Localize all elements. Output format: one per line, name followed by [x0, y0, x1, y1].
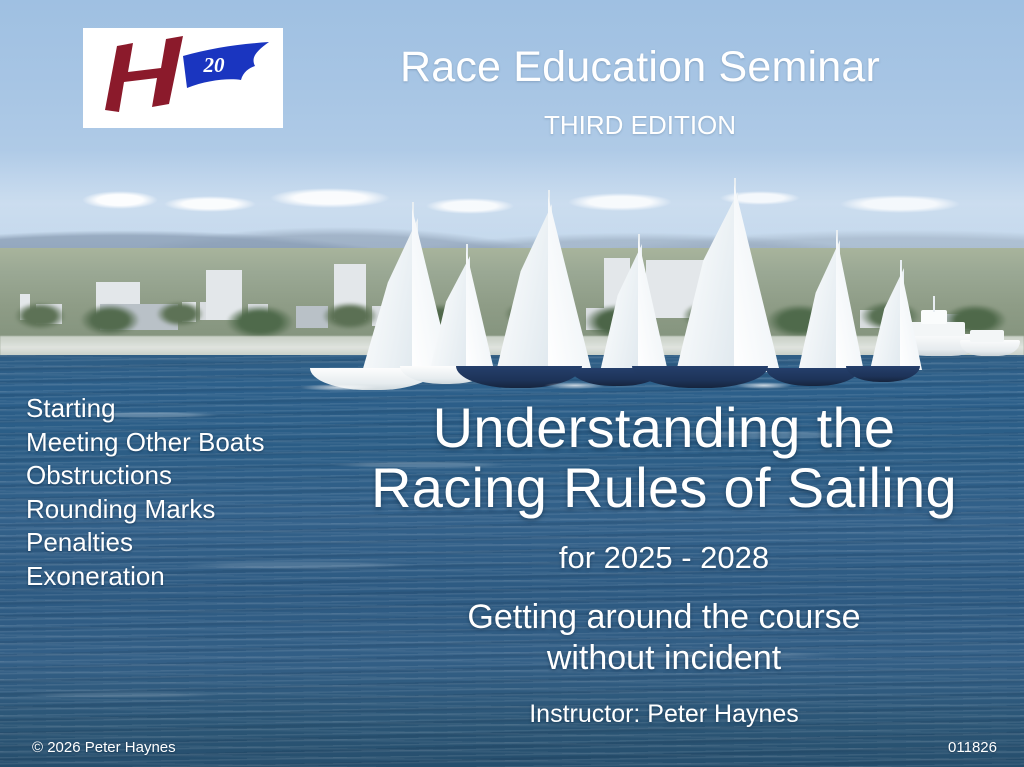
list-item: Meeting Other Boats [26, 426, 326, 460]
list-item: Rounding Marks [26, 493, 326, 527]
yacht-deck [970, 330, 1004, 342]
logo-burgee [183, 42, 269, 88]
wake [300, 384, 378, 391]
main-title-line-2: Racing Rules of Sailing [330, 458, 998, 518]
yacht-hull [960, 340, 1020, 356]
instructor-label: Instructor: Peter Haynes [330, 700, 998, 729]
main-title: Understanding the Racing Rules of Sailin… [330, 398, 998, 518]
logo-graphic: 20 [83, 28, 283, 128]
list-item: Starting [26, 392, 326, 426]
motor-yacht [960, 322, 1020, 356]
main-title-line-1: Understanding the [330, 398, 998, 458]
tagline: Getting around the course without incide… [330, 597, 998, 679]
tagline-line-2: without incident [330, 638, 998, 679]
slide-number: 011826 [948, 739, 997, 756]
list-item: Obstructions [26, 459, 326, 493]
club-logo: 20 [83, 28, 283, 128]
rulebook-years: for 2025 - 2028 [330, 540, 998, 576]
copyright-notice: © 2026 Peter Haynes [32, 739, 176, 756]
hull [846, 366, 920, 382]
jib-sail [900, 264, 922, 370]
mainsail [870, 268, 904, 370]
mainsail [676, 192, 738, 372]
tagline-line-1: Getting around the course [330, 597, 998, 638]
page-title: Race Education Seminar [330, 46, 950, 89]
sailboat [838, 256, 928, 388]
mainsail [496, 204, 552, 372]
yacht-mast [933, 296, 935, 312]
logo-burgee-number: 20 [203, 53, 226, 77]
title-slide: 20 Race Education Seminar THIRD EDITION … [0, 0, 1024, 767]
mainsail [798, 240, 840, 372]
logo-letter-h [105, 36, 183, 112]
topics-list: Starting Meeting Other Boats Obstruction… [26, 392, 326, 593]
list-item: Exoneration [26, 560, 326, 594]
list-item: Penalties [26, 526, 326, 560]
edition-label: THIRD EDITION [330, 110, 950, 141]
